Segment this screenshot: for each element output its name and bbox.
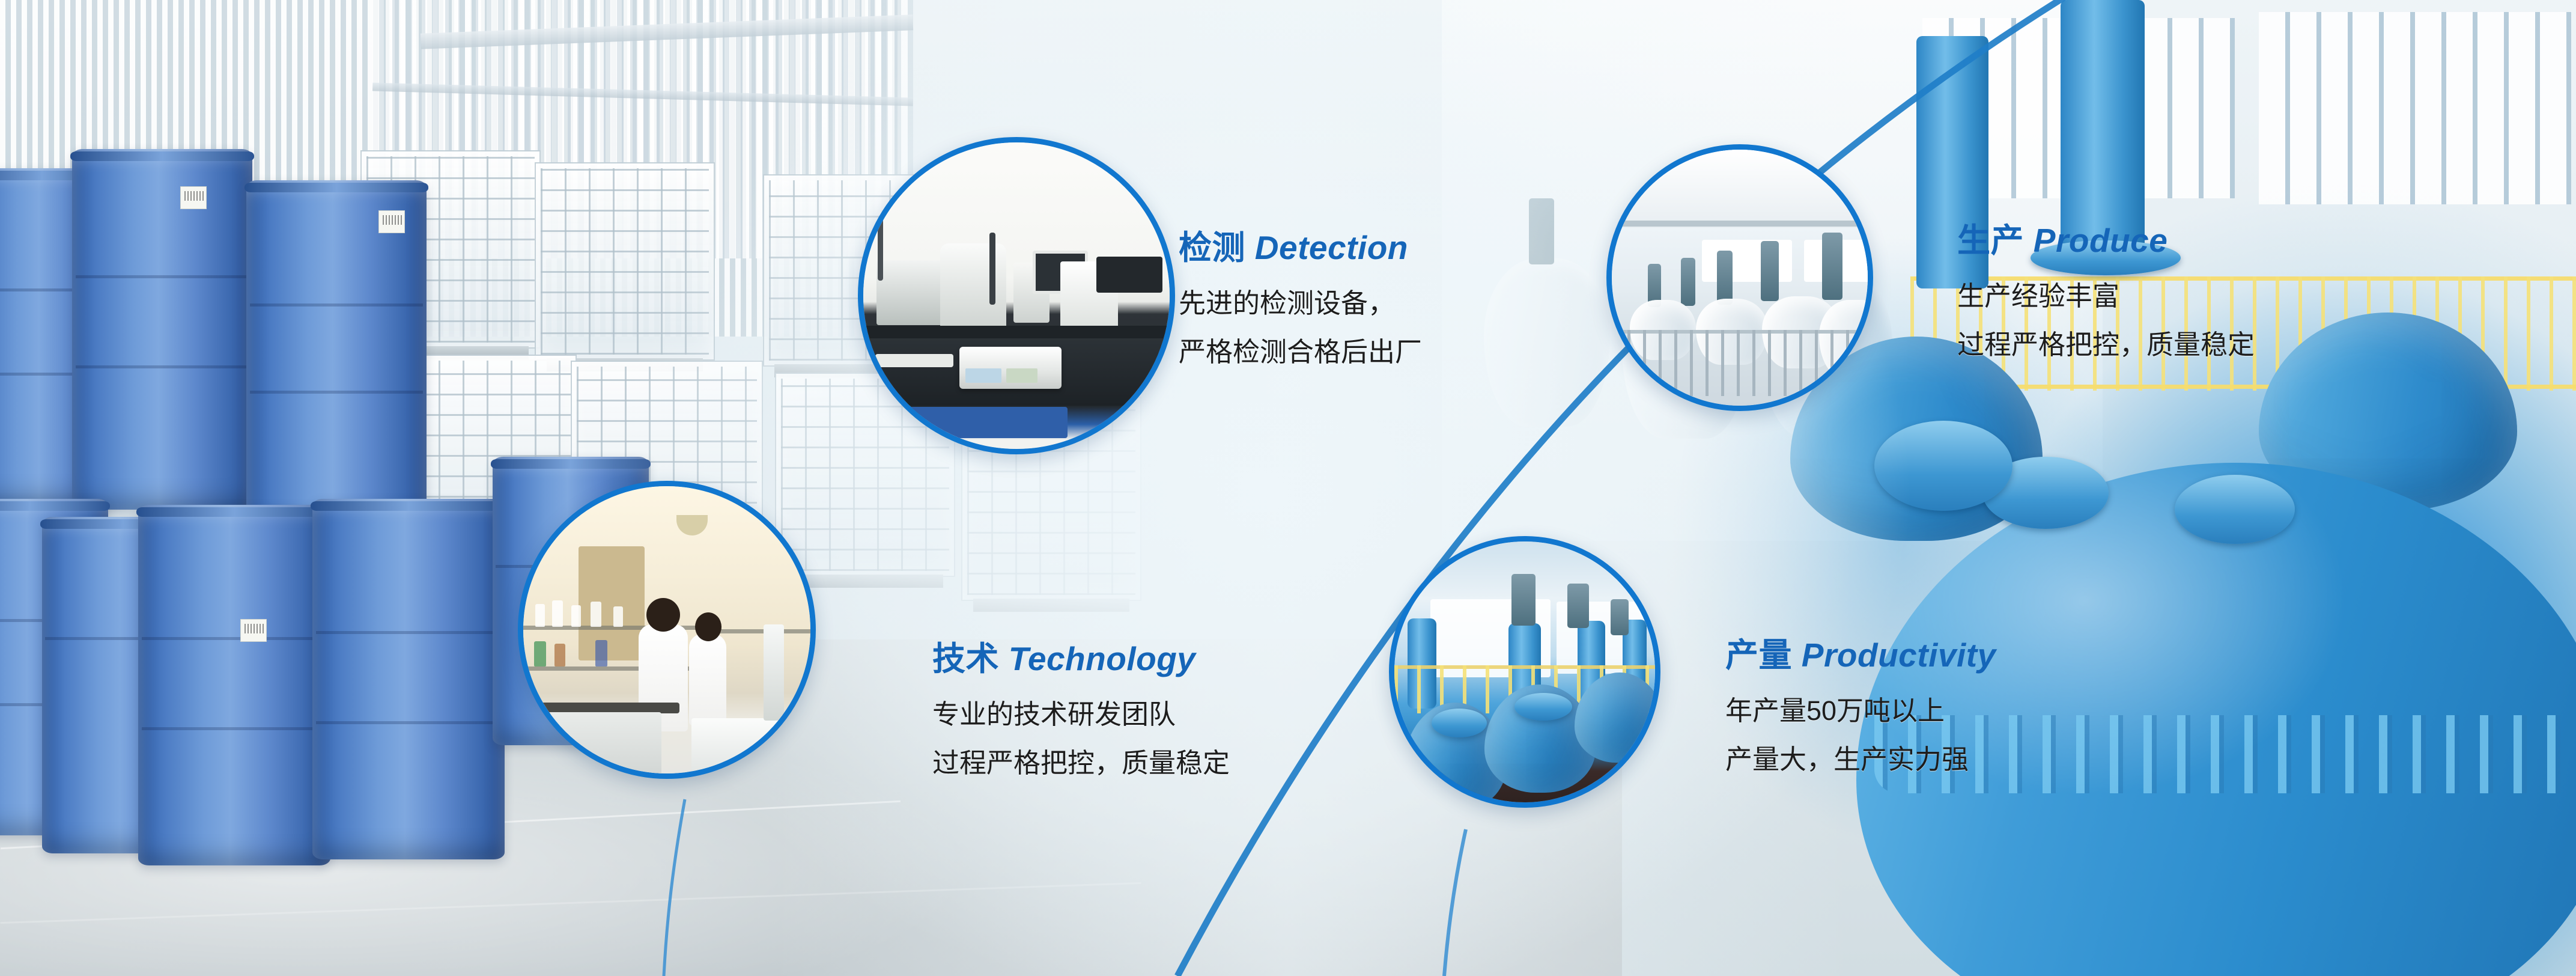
hall-ceiling — [1612, 150, 1873, 228]
feature-heading-detection: 检测 Detection — [1179, 231, 1422, 266]
ceiling-beam — [1612, 221, 1873, 227]
agitator-motor — [1511, 574, 1536, 626]
heading-cn: 产量 — [1725, 636, 1792, 674]
heading-en: Productivity — [1802, 636, 1996, 674]
reagent-bottle — [535, 604, 545, 627]
ceiling-lamp — [676, 515, 708, 535]
feature-photo-produce[interactable] — [1606, 144, 1873, 411]
reagent-bottle — [591, 602, 601, 627]
feature-heading-produce: 生产 Produce — [1957, 224, 2255, 258]
feature-text-produce: 生产 Produce 生产经验丰富 过程严格把控，质量稳定 — [1957, 224, 2255, 362]
lab-instrument — [1096, 257, 1162, 293]
lab-coat-person — [689, 634, 726, 725]
reagent-bottle — [552, 600, 563, 627]
feature-line: 专业的技术研发团队 — [932, 692, 1230, 731]
safety-railing — [1612, 330, 1873, 396]
reactor-manway — [1514, 693, 1572, 721]
person-head — [695, 612, 721, 641]
digital-scale — [959, 347, 1062, 389]
lab-cabinet — [691, 718, 800, 779]
agitator-motor — [1761, 241, 1779, 301]
feature-heading-productivity: 产量 Productivity — [1725, 638, 1996, 673]
background-photo — [0, 0, 2576, 976]
agitator-motor — [1717, 251, 1733, 305]
reagent-bottle — [554, 644, 565, 666]
feature-line: 年产量50万吨以上 — [1725, 689, 1996, 728]
agitator-motor — [1822, 233, 1842, 300]
photo-haze-overlay — [0, 0, 2576, 976]
lab-stand — [878, 215, 883, 281]
reagent-bottle — [595, 640, 607, 666]
feature-text-productivity: 产量 Productivity 年产量50万吨以上 产量大，生产实力强 — [1725, 638, 1996, 776]
feature-line: 过程严格把控，质量稳定 — [1957, 323, 2255, 362]
reagent-bottle — [571, 605, 581, 627]
technology-lab-scene — [523, 486, 810, 773]
feature-text-detection: 检测 Detection 先进的检测设备， 严格检测合格后出厂 — [1179, 231, 1422, 369]
lab-cabinet-stripe — [887, 407, 1068, 438]
agitator-motor — [1681, 258, 1695, 306]
feature-line: 生产经验丰富 — [1957, 274, 2255, 313]
feature-photo-productivity[interactable] — [1389, 536, 1660, 808]
lab-doorway — [579, 546, 645, 660]
lab-instrument — [940, 243, 1006, 328]
agitator-motor — [1567, 584, 1589, 628]
agitator-motor — [1611, 599, 1629, 635]
feature-text-technology: 技术 Technology 专业的技术研发团队 过程严格把控，质量稳定 — [932, 642, 1230, 780]
heading-cn: 技术 — [932, 640, 999, 677]
reagent-bottle — [613, 606, 623, 627]
feature-photo-technology[interactable] — [518, 481, 816, 779]
reagent-bottle — [534, 641, 546, 666]
lab-cabinet — [547, 712, 661, 779]
heading-en: Technology — [1009, 640, 1196, 677]
heading-en: Detection — [1255, 229, 1408, 266]
heading-en: Produce — [2034, 222, 2168, 259]
lab-stand — [989, 233, 995, 305]
feature-photo-detection[interactable] — [858, 137, 1175, 454]
heading-cn: 生产 — [1957, 222, 2024, 259]
productivity-reactor-scene — [1394, 541, 1655, 802]
promo-banner: 检测 Detection 先进的检测设备， 严格检测合格后出厂 生产 Produ… — [0, 0, 2576, 976]
reactor-manway — [1432, 709, 1487, 737]
feature-line: 严格检测合格后出厂 — [1179, 330, 1422, 369]
detection-lab-scene — [863, 142, 1170, 449]
heading-cn: 检测 — [1179, 229, 1245, 266]
lab-tray — [875, 354, 953, 367]
feature-line: 产量大，生产实力强 — [1725, 737, 1996, 776]
feature-line: 过程严格把控，质量稳定 — [932, 741, 1230, 780]
lab-equipment — [764, 624, 784, 721]
lab-instrument — [876, 260, 949, 325]
feature-heading-technology: 技术 Technology — [932, 642, 1230, 677]
person-head — [646, 598, 680, 632]
feature-line: 先进的检测设备， — [1179, 281, 1422, 320]
produce-hall-scene — [1612, 150, 1868, 406]
